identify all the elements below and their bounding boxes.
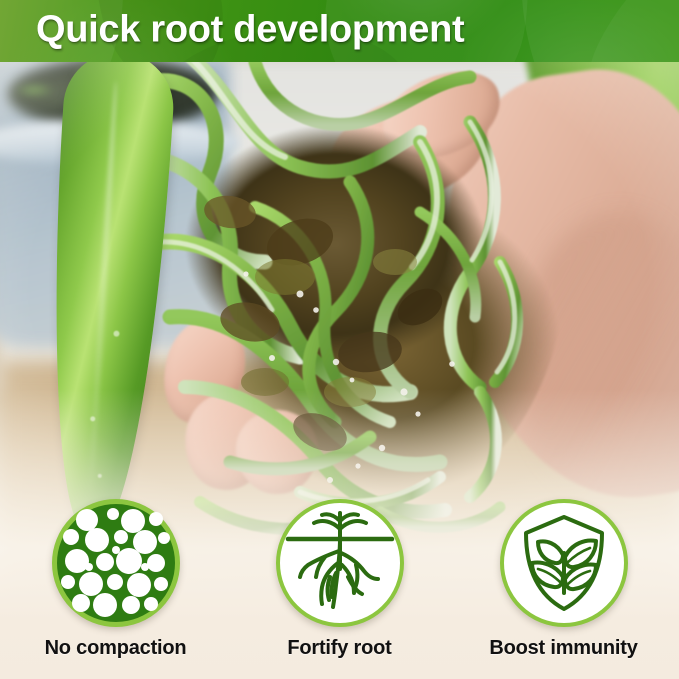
feature-label: Boost immunity — [489, 637, 637, 660]
feature-boost-immunity[interactable]: Boost immunity — [478, 499, 650, 660]
root-system-icon[interactable] — [276, 499, 404, 627]
page-title: Quick root development — [36, 9, 464, 52]
header-banner: Quick root development — [0, 0, 679, 62]
porous-dots-svg — [57, 504, 175, 622]
product-infographic: Quick root development — [0, 0, 679, 679]
feature-label: Fortify root — [287, 637, 391, 660]
porous-dots-circle-icon[interactable] — [52, 499, 180, 627]
feature-fortify-root[interactable]: Fortify root — [254, 499, 426, 660]
shield-leaf-svg — [510, 509, 618, 617]
root-system-svg — [284, 507, 396, 619]
feature-no-compaction[interactable]: No compaction — [30, 499, 202, 660]
feature-label: No compaction — [45, 637, 187, 660]
feature-row: No compaction — [0, 499, 679, 679]
shield-leaf-icon[interactable] — [500, 499, 628, 627]
